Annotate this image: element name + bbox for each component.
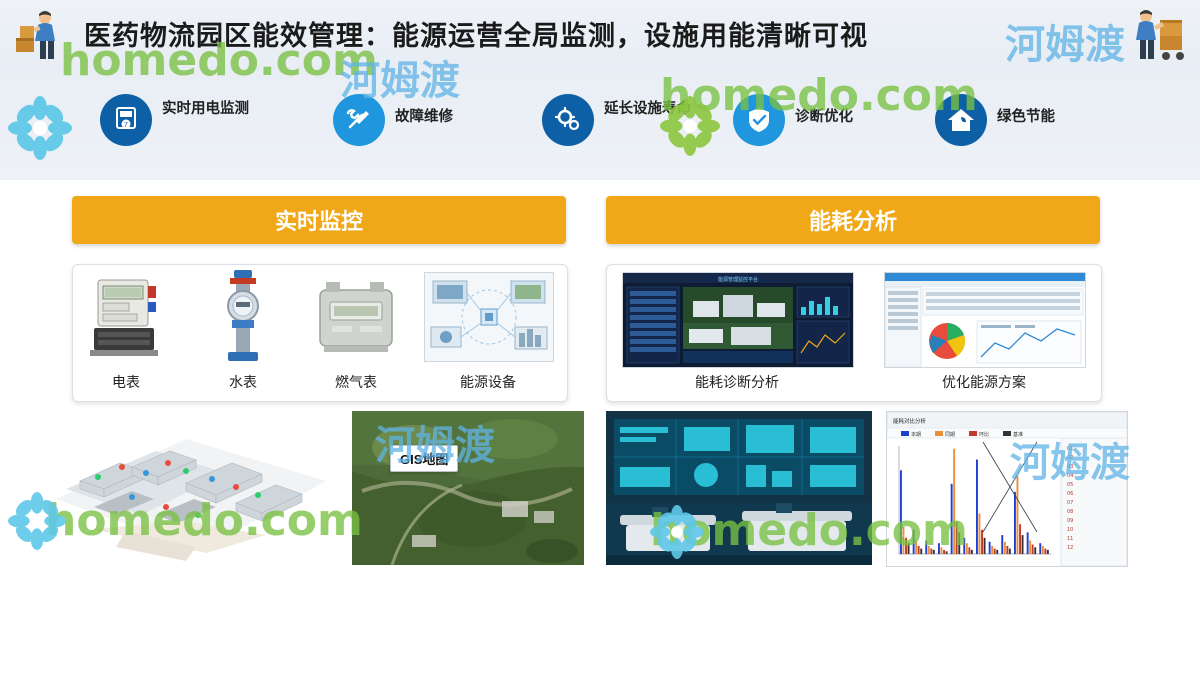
caption-gas-meter: 燃气表	[308, 372, 404, 392]
svg-text:能源管理监控平台: 能源管理监控平台	[718, 276, 758, 283]
svg-text:12: 12	[1067, 545, 1073, 551]
home-leaf-icon	[935, 94, 987, 146]
svg-text:06: 06	[1067, 491, 1073, 497]
svg-text:09: 09	[1067, 518, 1073, 524]
page-title: 医药物流园区能效管理：能源运营全局监测，设施用能清晰可视	[84, 14, 1104, 53]
shield-check-icon	[733, 94, 785, 146]
control-room-photo	[606, 411, 872, 565]
wrench-screwdriver-icon	[333, 94, 385, 146]
svg-text:04: 04	[1067, 473, 1073, 479]
gis-map-label: GIS地图	[390, 445, 458, 472]
gears-icon	[542, 94, 594, 146]
feature-item-4[interactable]: 诊断优化	[733, 86, 893, 166]
water-meter-photo	[210, 268, 276, 364]
worker-pushing-cart-icon	[1130, 6, 1190, 64]
feature-label-2: 故障维修	[395, 108, 505, 127]
svg-text:7: 7	[124, 122, 128, 129]
park-3d-model-image	[36, 411, 340, 565]
svg-text:本期: 本期	[911, 431, 921, 438]
feature-label-1: 实时用电监测	[162, 100, 272, 119]
svg-text:07: 07	[1067, 500, 1073, 506]
feature-label-3: 延长设施寿命	[604, 100, 714, 119]
page-header: 医药物流园区能效管理：能源运营全局监测，设施用能清晰可视	[0, 0, 1200, 72]
svg-text:01: 01	[1067, 446, 1073, 452]
caption-optimize-plan: 优化能源方案	[884, 372, 1084, 392]
svg-text:基准: 基准	[1013, 431, 1023, 438]
feature-icon-row: 7 实时用电监测 故障维修 延长设施寿命	[0, 86, 1200, 170]
electricity-meter-photo	[86, 272, 166, 362]
caption-energy-equipment: 能源设备	[424, 372, 552, 392]
svg-text:能耗对比分析: 能耗对比分析	[893, 417, 927, 425]
feature-item-1[interactable]: 7 实时用电监测	[100, 86, 270, 166]
section-title-realtime: 实时监控	[72, 196, 566, 244]
svg-text:03: 03	[1067, 464, 1073, 470]
svg-text:05: 05	[1067, 482, 1073, 488]
feature-label-4: 诊断优化	[795, 108, 905, 127]
svg-text:10: 10	[1067, 527, 1073, 533]
feature-item-3[interactable]: 延长设施寿命	[542, 86, 712, 166]
feature-item-2[interactable]: 故障维修	[333, 86, 493, 166]
energy-dashboard-screenshot: 能源管理监控平台	[622, 272, 854, 368]
section-title-analysis: 能耗分析	[606, 196, 1100, 244]
energy-equipment-diagram	[424, 272, 554, 362]
gas-meter-photo	[310, 276, 402, 360]
svg-text:08: 08	[1067, 509, 1073, 515]
energy-report-screenshot	[884, 272, 1086, 368]
feature-label-5: 绿色节能	[997, 108, 1107, 127]
caption-energy-diagnosis: 能耗诊断分析	[622, 372, 852, 392]
svg-text:环比: 环比	[979, 431, 989, 438]
satellite-map-image	[352, 411, 584, 565]
caption-electricity-meter: 电表	[86, 372, 166, 392]
electric-meter-icon: 7	[100, 94, 152, 146]
svg-text:同期: 同期	[945, 432, 955, 438]
svg-text:02: 02	[1067, 455, 1073, 461]
energy-bar-chart-screenshot: 本期同期环比基准能耗对比分析 010203040506070809101112	[886, 411, 1128, 567]
caption-water-meter: 水表	[195, 372, 291, 392]
svg-text:11: 11	[1067, 536, 1073, 542]
feature-item-5[interactable]: 绿色节能	[935, 86, 1105, 166]
worker-with-boxes-icon	[12, 8, 68, 64]
